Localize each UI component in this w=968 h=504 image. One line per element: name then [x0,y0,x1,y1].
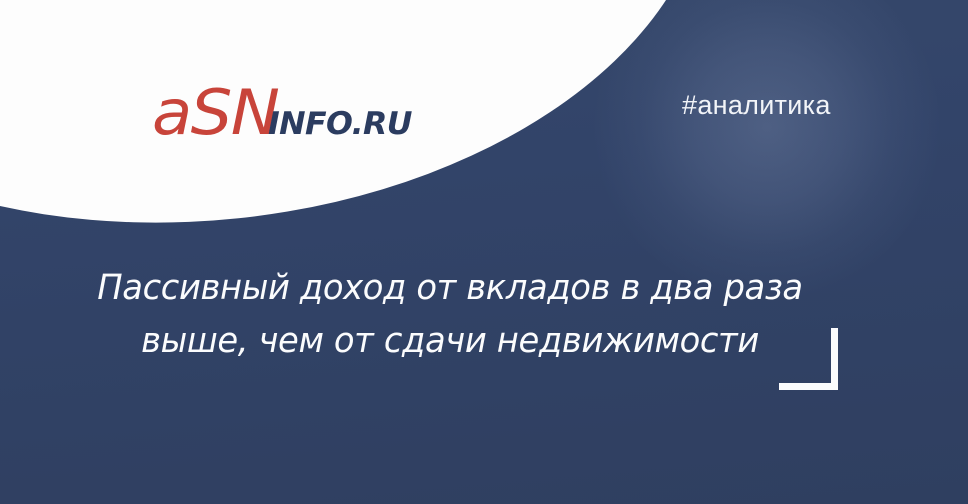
asninfo-logo[interactable]: aSN INFO.RU [152,82,409,144]
hashtag-label[interactable]: #аналитика [682,90,831,121]
corner-bracket-icon [779,328,838,390]
corner-bracket-horizontal-bar [779,383,838,390]
logo-secondary-text: INFO.RU [268,109,412,140]
logo-primary-text: aSN [152,82,278,144]
headline: Пассивный доход от вкладов в два раза вы… [60,262,840,368]
headline-line-2: выше, чем от сдачи недвижимости [74,315,827,368]
corner-bracket-vertical-bar [831,328,838,390]
headline-line-1: Пассивный доход от вкладов в два раза [74,262,827,315]
news-card-canvas: aSN INFO.RU #аналитика Пассивный доход о… [0,0,968,504]
